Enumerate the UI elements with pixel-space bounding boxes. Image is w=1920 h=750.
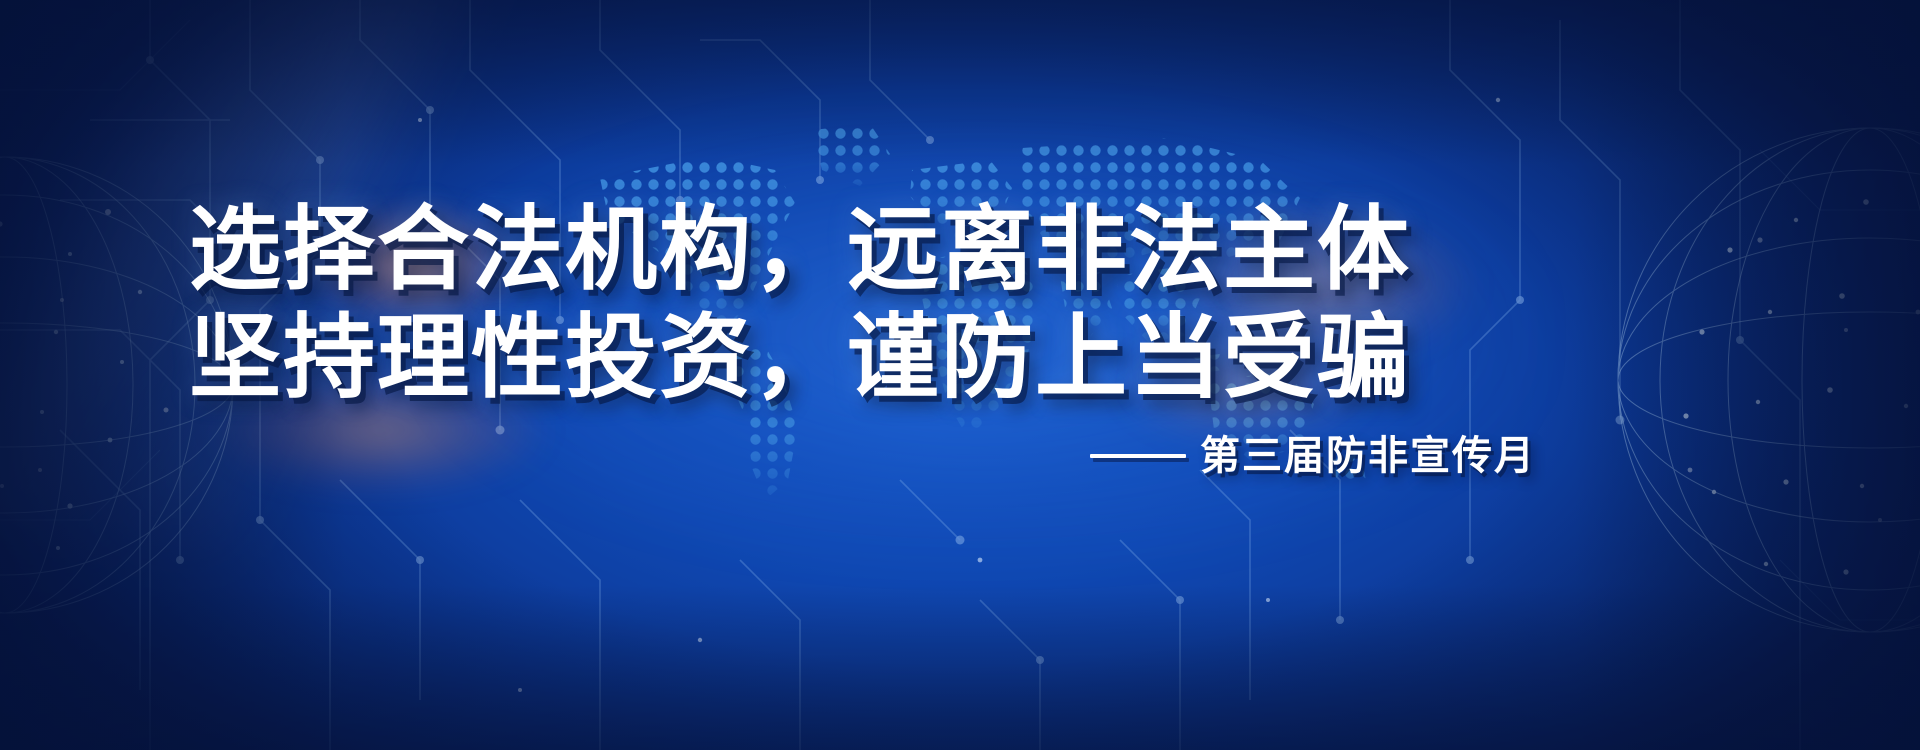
vignette-overlay — [0, 0, 1920, 750]
center-glow — [430, 120, 1530, 550]
lens-flare-icon — [215, 370, 545, 490]
lens-flare-icon — [1170, 210, 1470, 360]
headline-line-2: 坚持理性投资，谨防上当受骗 — [0, 304, 1600, 412]
circuit-board-icon — [0, 0, 1920, 750]
headline-line-1: 选择合法机构，远离非法主体 — [0, 196, 1600, 304]
headline-block: 选择合法机构，远离非法主体 坚持理性投资，谨防上当受骗 — [0, 196, 1600, 412]
wireframe-globe-icon — [1610, 120, 1920, 640]
lens-flare-icon — [1120, 330, 1370, 440]
subtitle-block: 第三届防非宣传月 — [0, 432, 1600, 480]
subtitle-text: 第三届防非宣传月 — [1200, 432, 1536, 480]
halftone-world-map-icon — [560, 108, 1380, 528]
light-sweep-secondary — [22, 0, 638, 598]
light-sweep — [0, 0, 720, 675]
promo-banner: 选择合法机构，远离非法主体 坚持理性投资，谨防上当受骗 第三届防非宣传月 — [0, 0, 1920, 750]
subtitle-dash-icon — [1090, 454, 1186, 458]
lens-flare-icon — [300, 200, 530, 330]
sparkle-particles — [0, 0, 1920, 750]
wireframe-globe-icon — [0, 150, 240, 620]
